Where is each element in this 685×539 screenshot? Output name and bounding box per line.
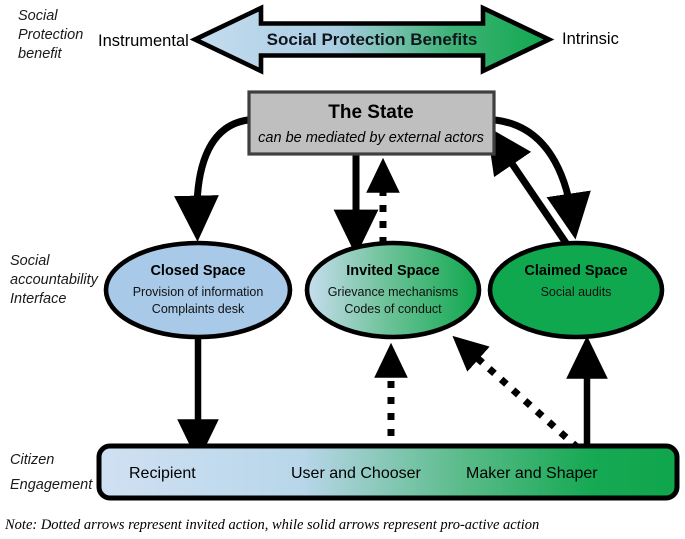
figure-note: Note: Dotted arrows represent invited ac… [4, 517, 539, 533]
citizen-engagement-bar[interactable]: Recipient User and Chooser Maker and Sha… [99, 446, 677, 498]
spectrum-right-label: Intrinsic [562, 30, 619, 48]
closed-space-line: Provision of information [133, 285, 264, 299]
arrow-state-to-claimed-space [495, 120, 572, 216]
spectrum-banner-label: Social Protection Benefits [267, 30, 478, 49]
invited-space-node[interactable]: Invited Space Grievance mechanisms Codes… [307, 243, 479, 337]
claimed-space-line: Social audits [541, 285, 612, 299]
row-label-social-accountability-interface: Social accountability Interface [10, 253, 99, 307]
row-label-line: accountability [10, 272, 99, 288]
invited-space-line: Grievance mechanisms [328, 285, 459, 299]
row-label-line: Protection [18, 27, 83, 43]
spectrum-double-arrow: Social Protection Benefits [195, 8, 549, 71]
closed-space-title: Closed Space [150, 263, 245, 279]
arrow-state-to-closed-space [197, 120, 248, 218]
arrow-maker-shaper-to-invited-space [466, 348, 578, 448]
row-label-line: Social [18, 8, 58, 24]
state-title: The State [328, 102, 414, 123]
closed-space-line: Complaints desk [152, 302, 245, 316]
invited-space-line: Codes of conduct [344, 302, 442, 316]
engagement-segment-maker-and-shaper: Maker and Shaper [466, 465, 598, 482]
row-label-line: Engagement [10, 477, 93, 493]
spectrum-left-label: Instrumental [98, 32, 189, 50]
claimed-space-title: Claimed Space [524, 263, 627, 279]
invited-space-title: Invited Space [346, 263, 439, 279]
state-node[interactable]: The State can be mediated by external ac… [249, 92, 494, 154]
engagement-segment-user-and-chooser: User and Chooser [291, 465, 422, 482]
claimed-space-node[interactable]: Claimed Space Social audits [490, 243, 662, 337]
engagement-segment-recipient: Recipient [129, 465, 196, 482]
diagram-canvas: Social Protection benefit Social account… [0, 0, 685, 539]
state-subtitle: can be mediated by external actors [258, 130, 484, 146]
row-label-citizen-engagement: Citizen Engagement [10, 452, 93, 493]
row-label-line: Citizen [10, 452, 54, 468]
row-label-line: Social [10, 253, 50, 269]
social-accountability-diagram: Social Protection benefit Social account… [0, 0, 685, 539]
row-label-line: Interface [10, 291, 66, 307]
row-label-social-protection-benefit: Social Protection benefit [18, 8, 83, 62]
closed-space-node[interactable]: Closed Space Provision of information Co… [106, 243, 290, 337]
row-label-line: benefit [18, 46, 63, 62]
